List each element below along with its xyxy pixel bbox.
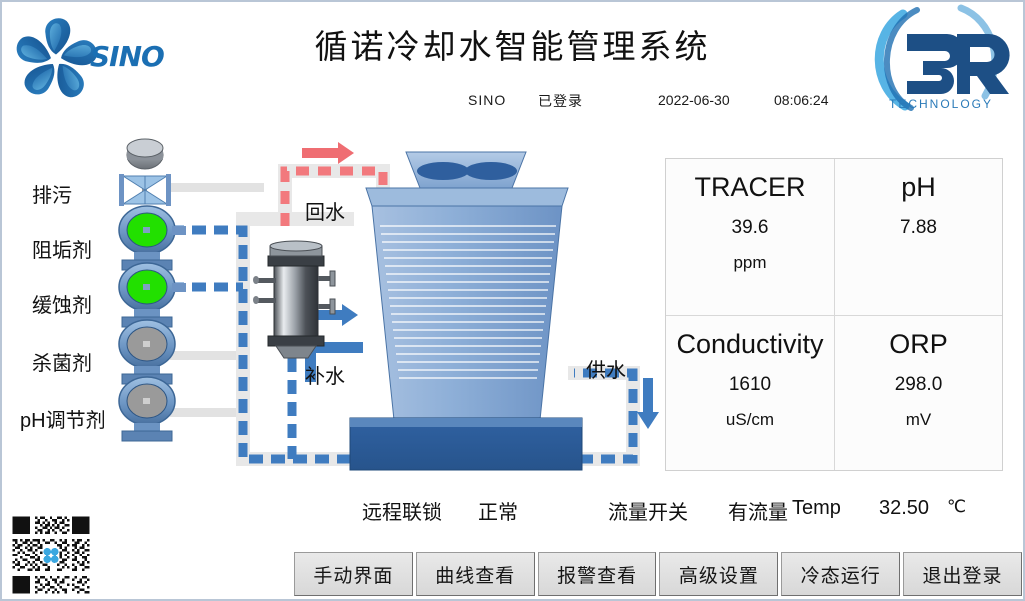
measurement-value: 39.6 <box>732 217 769 239</box>
idle-pipe-blowdown <box>170 183 264 192</box>
advanced-settings-button[interactable]: 高级设置 <box>659 552 778 596</box>
header-time: 08:06:24 <box>774 92 829 108</box>
label-blowdown: 排污 <box>32 179 72 208</box>
qr-code[interactable] <box>10 514 92 596</box>
remote-interlock-label: 远程联锁 <box>362 496 442 525</box>
measurement-unit: mV <box>906 410 932 430</box>
label-corrosion-inhibitor: 缓蚀剂 <box>32 289 92 318</box>
logout-button[interactable]: 退出登录 <box>903 552 1022 596</box>
measurement-tile-orp[interactable]: ORP 298.0 mV <box>834 315 1002 471</box>
return-water-arrow <box>302 142 354 164</box>
measurement-value: 1610 <box>729 374 771 396</box>
measurement-value: 7.88 <box>900 217 937 239</box>
label-ph-adjuster: pH调节剂 <box>20 404 106 433</box>
measurement-panel: TRACER 39.6 ppm pH 7.88 Conductivity 161… <box>665 158 1003 471</box>
label-return-water: 回水 <box>305 196 345 225</box>
label-supply-water: 供水 <box>586 354 626 383</box>
pump-corrosion-inhibitor[interactable] <box>119 263 186 327</box>
cold-start-button[interactable]: 冷态运行 <box>781 552 900 596</box>
manual-interface-button[interactable]: 手动界面 <box>294 552 413 596</box>
measurement-unit: uS/cm <box>726 410 774 430</box>
qr-code-icon[interactable] <box>10 514 92 596</box>
pump-biocide[interactable] <box>119 320 175 384</box>
header-status-line: SINO 已登录 2022-06-30 08:06:24 <box>2 92 1023 114</box>
idle-pipe-ph <box>170 408 246 417</box>
blowdown-valve-icon[interactable] <box>119 139 171 206</box>
measurement-unit: ppm <box>733 253 766 273</box>
header-login-status: 已登录 <box>538 91 583 111</box>
header-user: SINO <box>468 92 506 108</box>
measurement-tile-conductivity[interactable]: Conductivity 1610 uS/cm <box>666 315 834 471</box>
pump-scale-inhibitor[interactable] <box>119 206 186 270</box>
cooling-tower[interactable] <box>350 152 582 470</box>
measurement-tile-tracer[interactable]: TRACER 39.6 ppm <box>666 159 834 315</box>
button-bar: 手动界面 曲线查看 报警查看 高级设置 冷态运行 退出登录 <box>294 552 1022 596</box>
hmi-screen: SINO 循诺冷却水智能管理系统 TECHNOLOGY SINO 已登录 202… <box>0 0 1025 601</box>
pump-ph-adjuster[interactable] <box>119 377 175 441</box>
remote-interlock-value: 正常 <box>478 496 518 525</box>
temperature-unit: ℃ <box>947 497 966 517</box>
measurement-name: TRACER <box>694 171 805 203</box>
label-biocide: 杀菌剂 <box>32 347 92 376</box>
measurement-name: pH <box>901 171 936 203</box>
idle-pipe-biocide <box>170 351 246 360</box>
temperature-value: 32.50 <box>879 497 929 520</box>
status-row: 远程联锁 正常 流量开关 有流量 Temp 32.50 ℃ <box>342 496 1022 528</box>
header-date: 2022-06-30 <box>658 92 730 108</box>
measurement-tile-ph[interactable]: pH 7.88 <box>834 159 1002 315</box>
process-diagram: 排污 阻垢剂 缓蚀剂 杀菌剂 pH调节剂 回水 补水 供水 <box>2 130 662 490</box>
label-makeup-water: 补水 <box>305 360 345 389</box>
measurement-name: Conductivity <box>676 328 823 360</box>
flow-switch-value: 有流量 <box>728 496 788 525</box>
flow-switch-label: 流量开关 <box>608 496 688 525</box>
header: SINO 循诺冷却水智能管理系统 TECHNOLOGY SINO 已登录 202… <box>2 2 1023 122</box>
supply-water-arrow <box>637 378 659 429</box>
alarm-view-button[interactable]: 报警查看 <box>538 552 657 596</box>
label-scale-inhibitor: 阻垢剂 <box>32 234 92 263</box>
process-diagram-svg <box>2 130 662 490</box>
measurement-value: 298.0 <box>895 374 943 396</box>
heat-exchanger-vessel[interactable] <box>253 241 335 358</box>
temperature-label: Temp <box>792 497 841 520</box>
measurement-name: ORP <box>889 328 948 360</box>
curve-view-button[interactable]: 曲线查看 <box>416 552 535 596</box>
